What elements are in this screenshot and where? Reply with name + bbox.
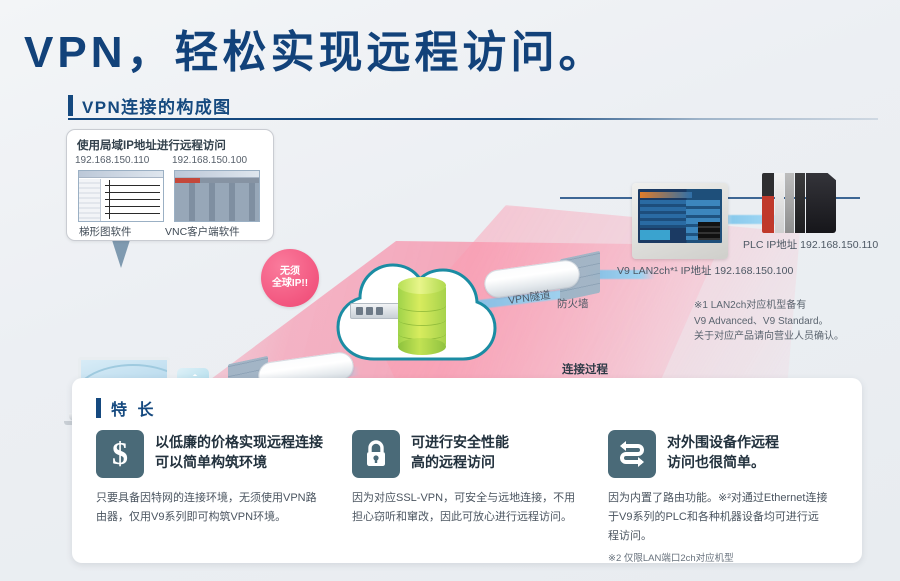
- feature-title: 对外围设备作远程 访问也很简单。: [667, 430, 779, 473]
- ladder-software-caption: 梯形图软件: [79, 224, 132, 239]
- firewall-right-label: 防火墙: [557, 297, 589, 312]
- v9-hmi-panel: [632, 183, 728, 259]
- svg-text:$: $: [112, 437, 128, 471]
- ip-address-ladder: 192.168.150.110: [75, 155, 149, 166]
- connection-process-title: 连接过程: [562, 361, 608, 377]
- feature-item-price: $ 以低廉的价格实现远程连接 可以简单构筑环境 只要具备因特网的连接环境，无须使…: [96, 430, 330, 564]
- page-title: VPN，轻松实现远程访问。: [24, 16, 606, 80]
- diagram-section-title: VPN连接的构成图: [82, 93, 232, 118]
- features-title: 特 长: [111, 396, 156, 420]
- ladder-software-thumbnail: [78, 170, 164, 222]
- no-global-ip-badge: 无须 全球IP!!: [261, 249, 319, 307]
- lock-icon: [352, 430, 400, 478]
- feature-body: 因为对应SSL-VPN，可安全与远地连接，不用 担心窃听和窜改，因此可放心进行远…: [352, 489, 586, 527]
- dollar-icon: $: [96, 430, 144, 478]
- feature-title: 可进行安全性能 高的远程访问: [411, 430, 509, 473]
- plc-caption: PLC IP地址 192.168.150.110: [743, 238, 855, 253]
- plc-device: [762, 173, 836, 233]
- ip-address-vnc: 192.168.150.100: [172, 155, 247, 166]
- feature-body: 只要具备因特网的连接环境，无须使用VPN路 由器，仅用V9系列即可构筑VPN环境…: [96, 489, 330, 527]
- vnc-software-caption: VNC客户端软件: [165, 224, 240, 239]
- local-ip-callout: 使用局域IP地址进行远程访问 192.168.150.110 192.168.1…: [66, 129, 274, 241]
- vpn-server-database-icon: [398, 277, 446, 355]
- badge-line-2: 全球IP!!: [272, 278, 308, 291]
- footnote-lan2ch: ※1 LAN2ch对应机型备有 V9 Advanced、V9 Standard。…: [694, 298, 894, 345]
- features-columns: $ 以低廉的价格实现远程连接 可以简单构筑环境 只要具备因特网的连接环境，无须使…: [96, 430, 842, 564]
- section-divider: [68, 118, 878, 120]
- feature-body: 因为内置了路由功能。※²对通过Ethernet连接 于V9系列的PLC和各种机器…: [608, 489, 842, 546]
- features-header: 特 长: [96, 396, 156, 420]
- feature-item-security: 可进行安全性能 高的远程访问 因为对应SSL-VPN，可安全与远地连接，不用 担…: [352, 430, 586, 564]
- feature-item-peripherals: 对外围设备作远程 访问也很简单。 因为内置了路由功能。※²对通过Ethernet…: [608, 430, 842, 564]
- loop-arrows-icon: [608, 430, 656, 478]
- features-accent-bar: [96, 398, 101, 418]
- feature-note: ※2 仅限LAN端口2ch对应机型: [608, 550, 842, 564]
- callout-title: 使用局域IP地址进行远程访问: [77, 137, 226, 153]
- feature-title: 以低廉的价格实现远程连接 可以简单构筑环境: [155, 430, 323, 473]
- features-card: 特 长 $ 以低廉的价格实现远程连接 可以简单构筑环境 只要具备因特网的连接环境…: [72, 378, 862, 563]
- hmi-caption: V9 LAN2ch*¹ IP地址 192.168.150.100: [617, 264, 743, 279]
- badge-line-1: 无须: [280, 266, 300, 279]
- vpn-diagram: VPN连接的构成图 使用局域IP地址进行远程访问 192.168.150.110…: [0, 85, 900, 365]
- diagram-section-header: VPN连接的构成图: [68, 93, 232, 118]
- vnc-software-thumbnail: [174, 170, 260, 222]
- bubble-tail: [112, 240, 130, 268]
- section-accent-bar: [68, 95, 73, 116]
